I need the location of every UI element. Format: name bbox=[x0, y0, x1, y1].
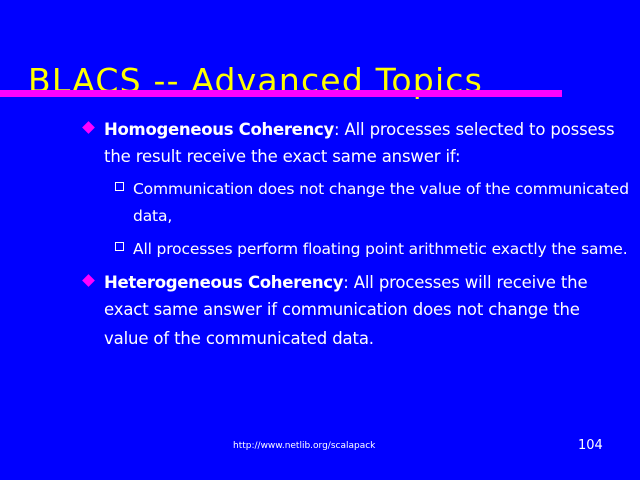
slide-body: Homogeneous Coherency: All processes sel… bbox=[84, 116, 632, 354]
bullet-lead-label: Homogeneous Coherency bbox=[104, 120, 334, 139]
diamond-bullet-icon bbox=[82, 274, 95, 287]
slide-canvas: BLACS -- Advanced Topics Homogeneous Coh… bbox=[0, 0, 640, 480]
bullet-item-heterogeneous-coherency: Heterogeneous Coherency: All processes w… bbox=[84, 269, 632, 323]
square-bullet-icon bbox=[115, 242, 124, 251]
bullet-text: Communication does not change the value … bbox=[133, 176, 632, 230]
bullet-lead-label: Heterogeneous Coherency bbox=[104, 273, 343, 292]
bullet-text: Homogeneous Coherency: All processes sel… bbox=[104, 116, 632, 170]
footer-page-number: 104 bbox=[578, 438, 603, 453]
square-bullet-icon bbox=[115, 182, 124, 191]
diamond-bullet-icon bbox=[82, 121, 95, 134]
footer-url[interactable]: http://www.netlib.org/scalapack bbox=[233, 441, 375, 451]
bullet-text: All processes perform floating point ari… bbox=[133, 236, 632, 263]
bullet-body-text: value of the communicated data. bbox=[104, 329, 374, 348]
bullet-body-text: Communication does not change the value … bbox=[133, 180, 629, 225]
title-underline-rule bbox=[0, 90, 562, 97]
bullet-item-floating-point-arithmetic: All processes perform floating point ari… bbox=[84, 236, 632, 263]
bullet-item-continuation: value of the communicated data. bbox=[84, 325, 632, 352]
bullet-text: Heterogeneous Coherency: All processes w… bbox=[104, 269, 632, 323]
bullet-item-homogeneous-coherency: Homogeneous Coherency: All processes sel… bbox=[84, 116, 632, 170]
bullet-body-text: All processes perform floating point ari… bbox=[133, 240, 627, 258]
bullet-item-communication-value: Communication does not change the value … bbox=[84, 176, 632, 230]
bullet-text: value of the communicated data. bbox=[104, 325, 632, 352]
